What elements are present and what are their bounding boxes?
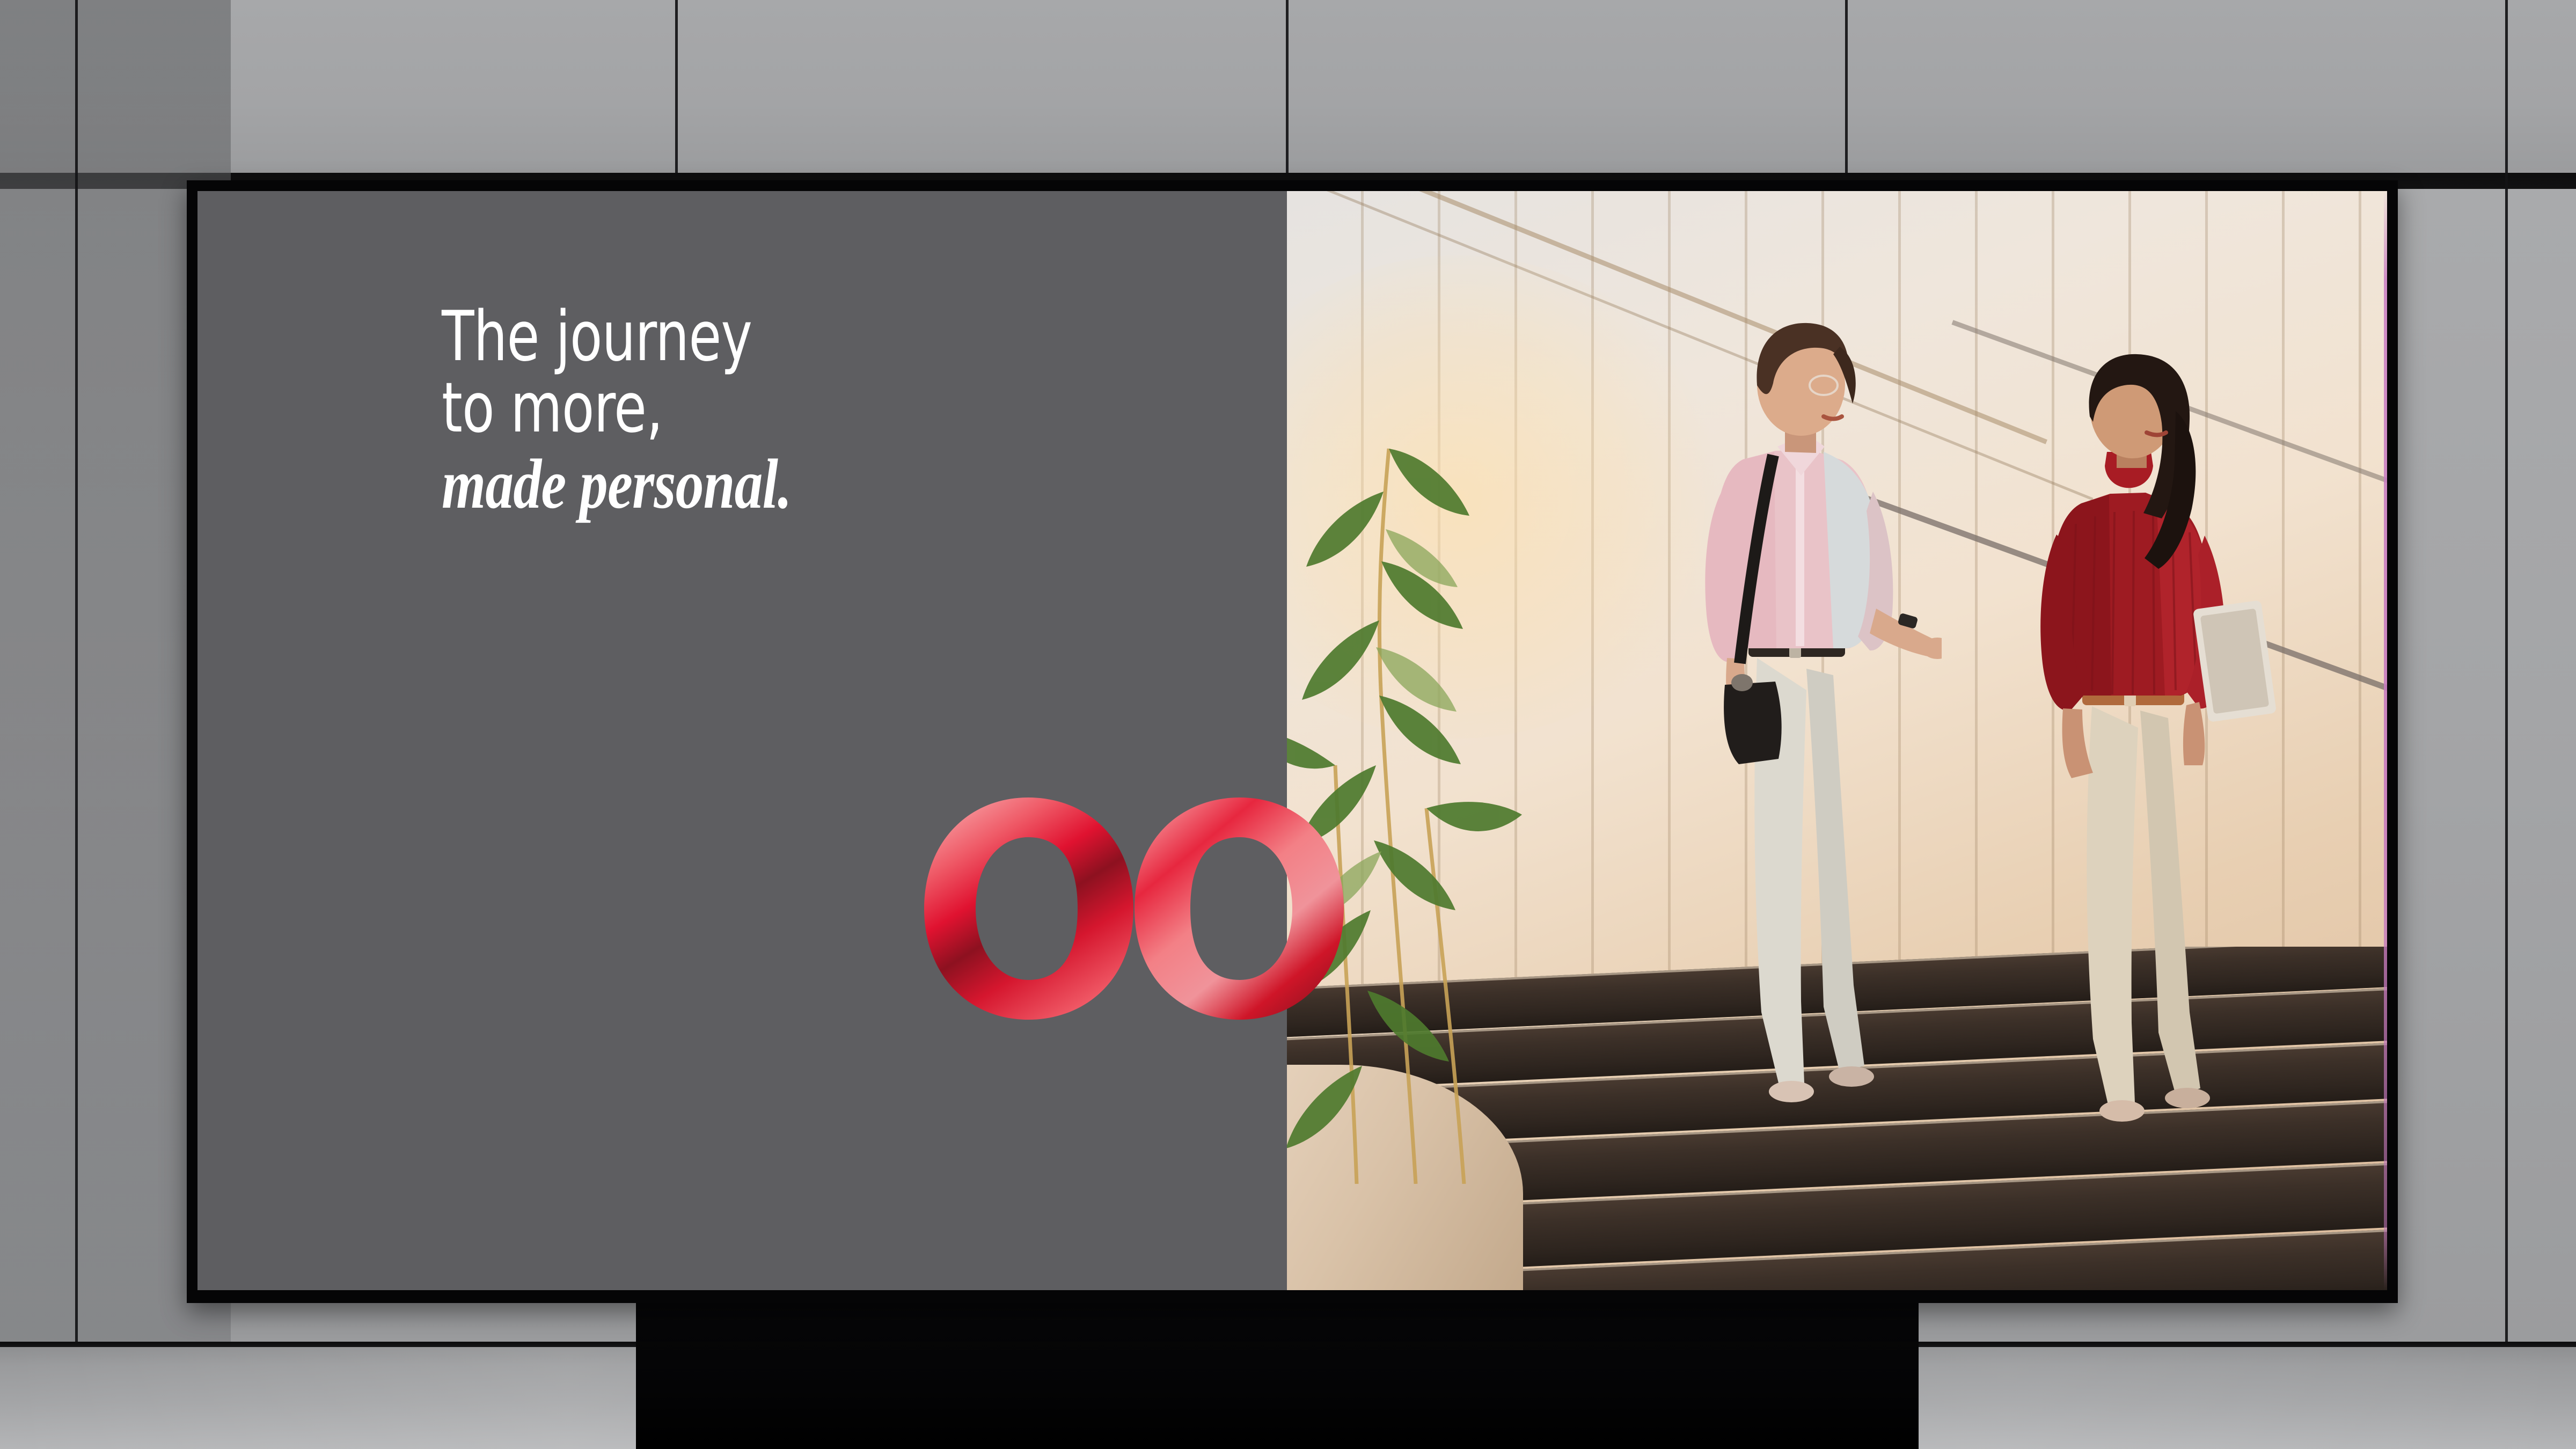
lifestyle-photograph xyxy=(1287,191,2387,1290)
creative-left-panel: The journey to more, made personal. xyxy=(197,191,1287,1290)
headline-line-2: to more, xyxy=(442,372,1134,444)
infinity-ribbon-icon xyxy=(917,793,1351,1024)
wall-seam-2 xyxy=(675,0,678,173)
headline-line-3: made personal. xyxy=(442,447,1086,521)
wall-seam-5 xyxy=(2505,0,2508,1342)
photo-person-right xyxy=(1990,352,2280,1162)
wall-seam-4 xyxy=(1845,0,1848,173)
screen-edge-glow xyxy=(2384,191,2387,1290)
wall-seam-3 xyxy=(1286,0,1289,173)
headline-line-1: The journey xyxy=(442,301,1134,372)
photo-bamboo-plant xyxy=(1287,368,1609,1184)
wall-seam-1 xyxy=(75,0,78,1342)
tv-stand xyxy=(636,1299,1919,1449)
signage-scene: The journey to more, made personal. xyxy=(0,0,2576,1449)
tv-display[interactable]: The journey to more, made personal. xyxy=(187,180,2398,1303)
photo-person-left xyxy=(1663,314,1942,1152)
tv-screen: The journey to more, made personal. xyxy=(197,191,2387,1290)
headline: The journey to more, made personal. xyxy=(442,301,1247,521)
